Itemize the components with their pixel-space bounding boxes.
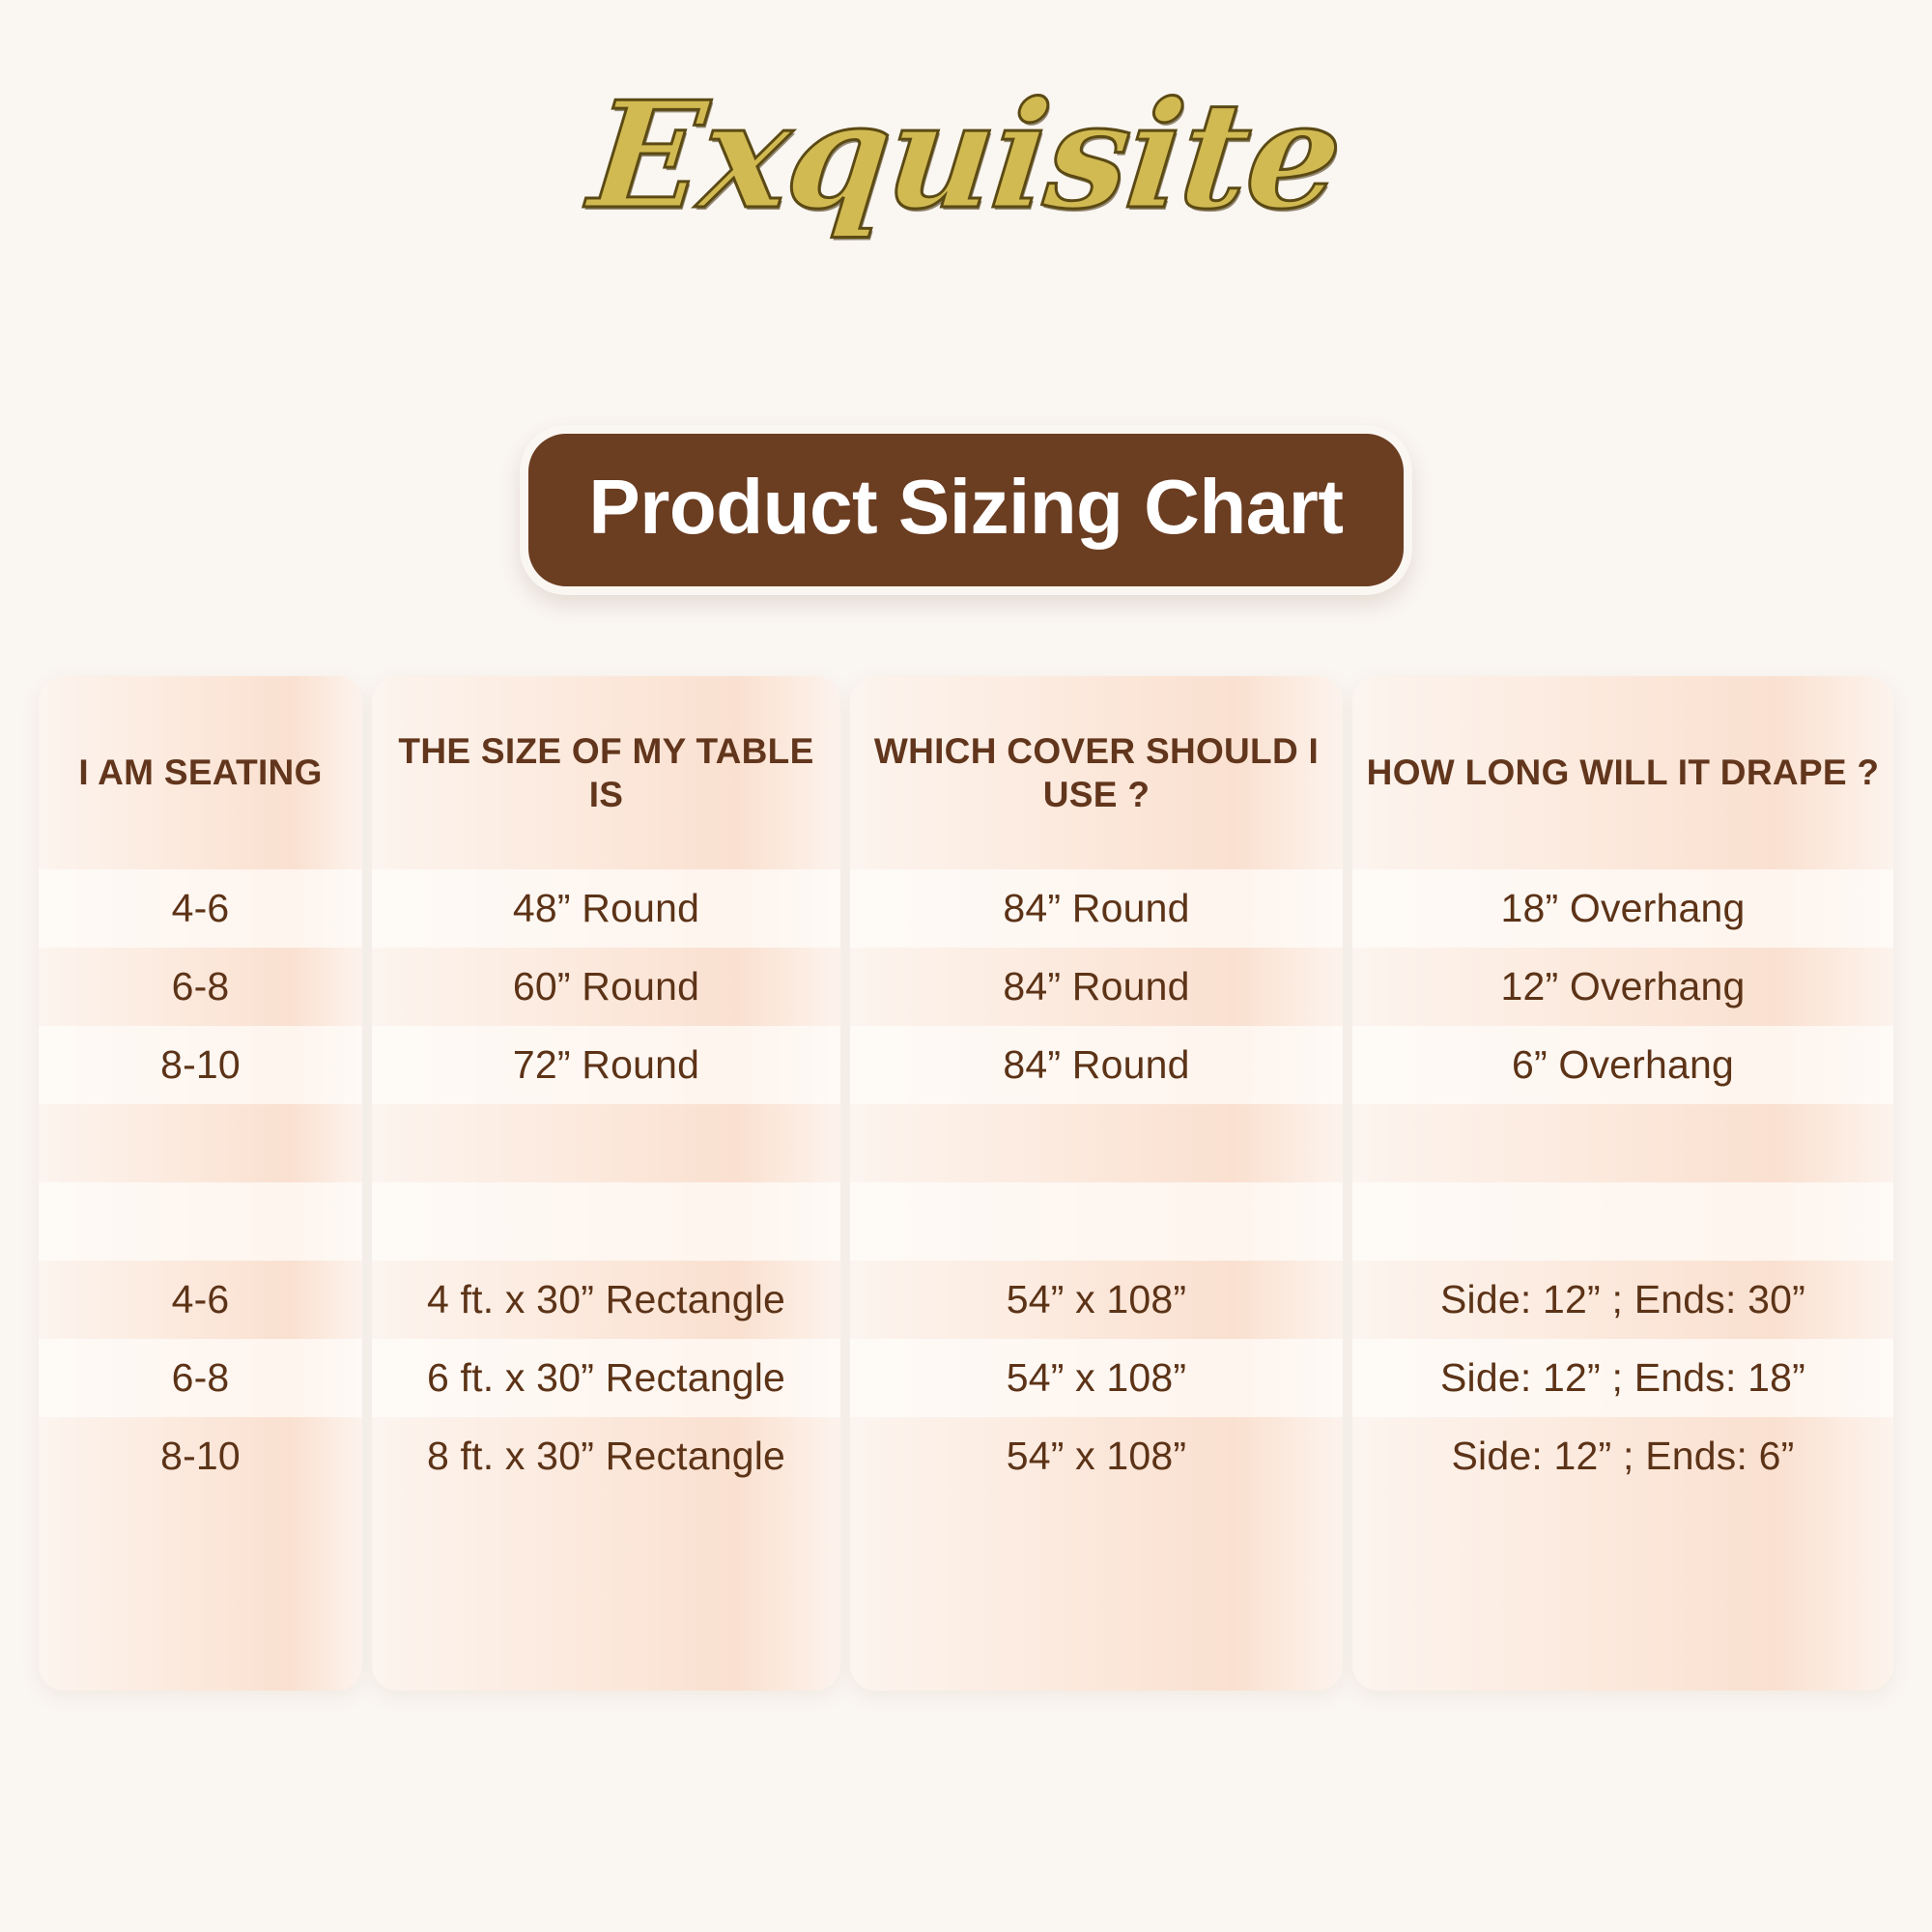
cell-cover-5 (850, 1182, 1343, 1261)
cell-table-size-5 (372, 1182, 840, 1261)
cell-drape-4 (1352, 1104, 1893, 1182)
cell-drape-8: Side: 12” ; Ends: 6” (1352, 1417, 1893, 1495)
cell-seating-3: 8-10 (39, 1026, 362, 1104)
sizing-table: I AM SEATING 4-6 6-8 8-10 4-6 6-8 8-10 T… (39, 676, 1893, 1690)
card-tail (1352, 1495, 1893, 1573)
cell-cover-4 (850, 1104, 1343, 1182)
cell-drape-6: Side: 12” ; Ends: 30” (1352, 1261, 1893, 1339)
cell-drape-1: 18” Overhang (1352, 869, 1893, 948)
page-title-banner: Product Sizing Chart (0, 425, 1932, 595)
column-table-size: THE SIZE OF MY TABLE IS 48” Round 60” Ro… (372, 676, 840, 1690)
column-header-seating: I AM SEATING (39, 676, 362, 869)
cell-seating-1: 4-6 (39, 869, 362, 948)
cell-table-size-3: 72” Round (372, 1026, 840, 1104)
sizing-chart-page: Exquisite Product Sizing Chart I AM SEAT… (0, 0, 1932, 1932)
column-header-cover: WHICH COVER SHOULD I USE ? (850, 676, 1343, 869)
card-tail (372, 1495, 840, 1573)
column-header-table-size: THE SIZE OF MY TABLE IS (372, 676, 840, 869)
brand-logo-text: Exquisite (584, 82, 1347, 229)
cell-seating-5 (39, 1182, 362, 1261)
cell-table-size-2: 60” Round (372, 948, 840, 1026)
cell-cover-8: 54” x 108” (850, 1417, 1343, 1495)
cell-cover-1: 84” Round (850, 869, 1343, 948)
column-cover: WHICH COVER SHOULD I USE ? 84” Round 84”… (850, 676, 1343, 1690)
card-tail (39, 1495, 362, 1573)
cell-drape-5 (1352, 1182, 1893, 1261)
cell-cover-3: 84” Round (850, 1026, 1343, 1104)
cell-seating-2: 6-8 (39, 948, 362, 1026)
column-seating: I AM SEATING 4-6 6-8 8-10 4-6 6-8 8-10 (39, 676, 362, 1690)
cell-cover-2: 84” Round (850, 948, 1343, 1026)
cell-seating-6: 4-6 (39, 1261, 362, 1339)
cell-seating-7: 6-8 (39, 1339, 362, 1417)
cell-table-size-7: 6 ft. x 30” Rectangle (372, 1339, 840, 1417)
column-header-drape: HOW LONG WILL IT DRAPE ? (1352, 676, 1893, 869)
page-title: Product Sizing Chart (520, 425, 1411, 595)
cell-table-size-6: 4 ft. x 30” Rectangle (372, 1261, 840, 1339)
cell-seating-8: 8-10 (39, 1417, 362, 1495)
cell-table-size-1: 48” Round (372, 869, 840, 948)
brand-logo: Exquisite (0, 82, 1932, 229)
cell-seating-4 (39, 1104, 362, 1182)
cell-table-size-8: 8 ft. x 30” Rectangle (372, 1417, 840, 1495)
cell-drape-2: 12” Overhang (1352, 948, 1893, 1026)
cell-table-size-4 (372, 1104, 840, 1182)
cell-drape-7: Side: 12” ; Ends: 18” (1352, 1339, 1893, 1417)
cell-cover-6: 54” x 108” (850, 1261, 1343, 1339)
card-tail (850, 1495, 1343, 1573)
cell-cover-7: 54” x 108” (850, 1339, 1343, 1417)
cell-drape-3: 6” Overhang (1352, 1026, 1893, 1104)
column-drape: HOW LONG WILL IT DRAPE ? 18” Overhang 12… (1352, 676, 1893, 1690)
